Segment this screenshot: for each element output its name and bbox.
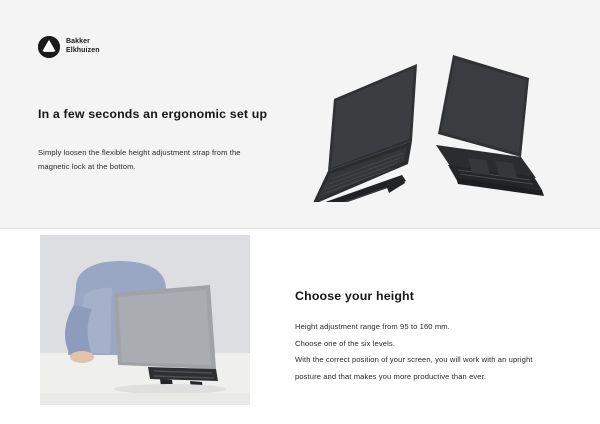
- bottom-body-line-1: Height adjustment range from 95 to 160 m…: [295, 319, 553, 336]
- top-heading: In a few seconds an ergonomic set up: [38, 107, 267, 121]
- bakker-elkhuizen-logo-icon: [38, 36, 60, 58]
- brand-name-line1: Bakker: [66, 38, 100, 47]
- bottom-body-line-2: Choose one of the six levels.: [295, 336, 553, 353]
- laptop-on-stand-rear-view: [436, 55, 544, 196]
- bottom-body-line-4: posture and that makes you more producti…: [295, 369, 553, 386]
- person-typing-on-laptop-stand-photo: [40, 235, 250, 405]
- product-info-page: Bakker Elkhuizen In a few seconds an erg…: [0, 0, 600, 424]
- bottom-body-line-3: With the correct position of your screen…: [295, 352, 553, 369]
- bottom-heading: Choose your height: [295, 289, 414, 303]
- laptop-illustrations: [290, 42, 590, 202]
- brand-name-line2: Elkhuizen: [66, 47, 100, 56]
- laptop-on-stand-side-view: [312, 64, 417, 202]
- brand-logo: Bakker Elkhuizen: [38, 36, 100, 58]
- brand-name: Bakker Elkhuizen: [66, 38, 100, 55]
- top-section: Bakker Elkhuizen In a few seconds an erg…: [0, 0, 600, 228]
- top-body-text: Simply loosen the flexible height adjust…: [38, 146, 253, 174]
- bottom-body-text: Height adjustment range from 95 to 160 m…: [295, 319, 553, 385]
